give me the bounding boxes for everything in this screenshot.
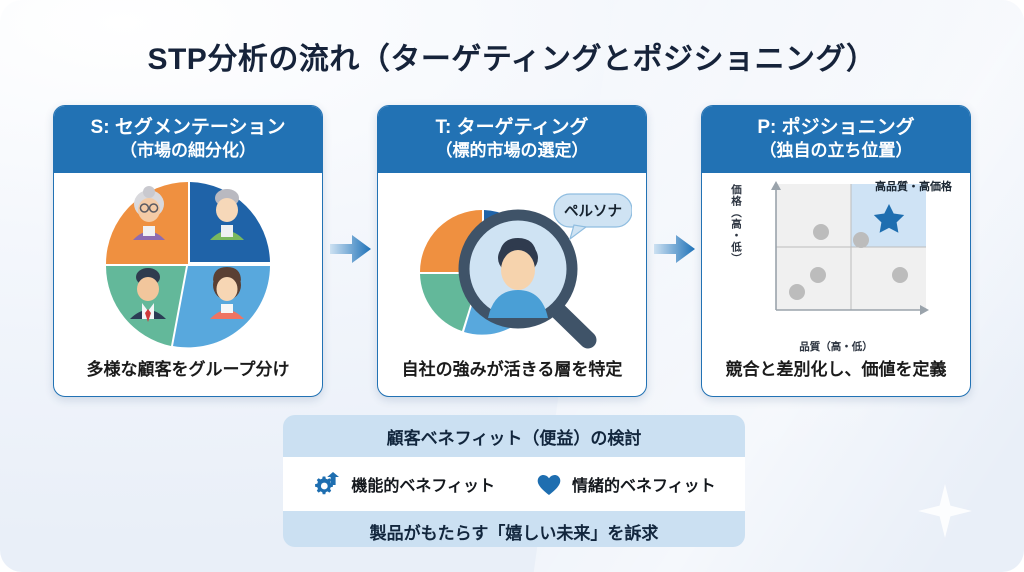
map-dot-competitor [810, 267, 826, 283]
card-targeting-subtitle: （標的市場の選定） [384, 140, 640, 162]
benefit-panel: 顧客ベネフィット（便益）の検討 機能的ベネフィット 情緒的ベネフィット 製品がも… [283, 415, 745, 547]
persona-bubble: ペルソナ [554, 194, 632, 239]
card-targeting-caption: 自社の強みが活きる層を特定 [378, 355, 646, 396]
card-targeting-header: T: ターゲティング （標的市場の選定） [378, 106, 646, 173]
benefit-item-functional-label: 機能的ベネフィット [351, 472, 495, 496]
infographic-canvas: STP分析の流れ（ターゲティングとポジショニング） S: セグメンテーション （… [0, 0, 1024, 572]
benefit-item-functional: 機能的ベネフィット [312, 469, 495, 499]
card-positioning-title: P: ポジショニング [708, 116, 964, 140]
map-quadrant-label: 高品質・高価格 [875, 178, 952, 194]
map-dot-competitor [892, 267, 908, 283]
positioning-map: 価格（高・低） [718, 174, 954, 354]
gear-arrow-icon [312, 469, 342, 499]
arrow-t-to-p-icon [654, 232, 696, 266]
card-positioning-subtitle: （独自の立ち位置） [708, 140, 964, 162]
card-positioning-illustration: 価格（高・低） [702, 173, 970, 355]
page-title: STP分析の流れ（ターゲティングとポジショニング） [0, 34, 1024, 78]
card-segmentation-title: S: セグメンテーション [60, 116, 316, 140]
card-segmentation-header: S: セグメンテーション （市場の細分化） [54, 106, 322, 173]
card-positioning-header: P: ポジショニング （独自の立ち位置） [702, 106, 970, 173]
card-targeting-illustration: ペルソナ [378, 173, 646, 355]
map-dot-competitor [853, 232, 869, 248]
benefit-items-strip: 機能的ベネフィット 情緒的ベネフィット [283, 457, 745, 511]
benefit-panel-title: 顧客ベネフィット（便益）の検討 [387, 424, 642, 449]
sparkle-decoration-icon [918, 484, 972, 538]
arrow-s-to-t-icon [330, 232, 372, 266]
map-dot-competitor [789, 284, 805, 300]
map-x-axis-label: 品質（高・低） [718, 339, 954, 354]
card-positioning: P: ポジショニング （独自の立ち位置） 価格（高・低） [701, 105, 971, 397]
card-segmentation-caption: 多様な顧客をグループ分け [54, 355, 322, 396]
persona-bubble-label: ペルソナ [564, 203, 622, 220]
card-segmentation-subtitle: （市場の細分化） [60, 140, 316, 162]
benefit-panel-footer: 製品がもたらす「嬉しい未来」を訴求 [370, 519, 659, 544]
card-segmentation: S: セグメンテーション （市場の細分化） [53, 105, 323, 397]
card-targeting-title: T: ターゲティング [384, 116, 640, 140]
card-targeting: T: ターゲティング （標的市場の選定） [377, 105, 647, 397]
card-segmentation-illustration [54, 173, 322, 355]
positioning-map-plot [754, 176, 940, 338]
magnifier-over-pie-icon: ペルソナ [392, 174, 632, 354]
map-dot-competitor [813, 224, 829, 240]
card-positioning-caption: 競合と差別化し、価値を定義 [702, 355, 970, 396]
benefit-item-emotional-label: 情緒的ベネフィット [572, 472, 716, 496]
segment-pie-chart-icon [93, 180, 283, 348]
heart-icon [535, 470, 563, 498]
benefit-item-emotional: 情緒的ベネフィット [535, 470, 716, 498]
map-y-axis-label: 価格（高・低） [722, 184, 744, 265]
